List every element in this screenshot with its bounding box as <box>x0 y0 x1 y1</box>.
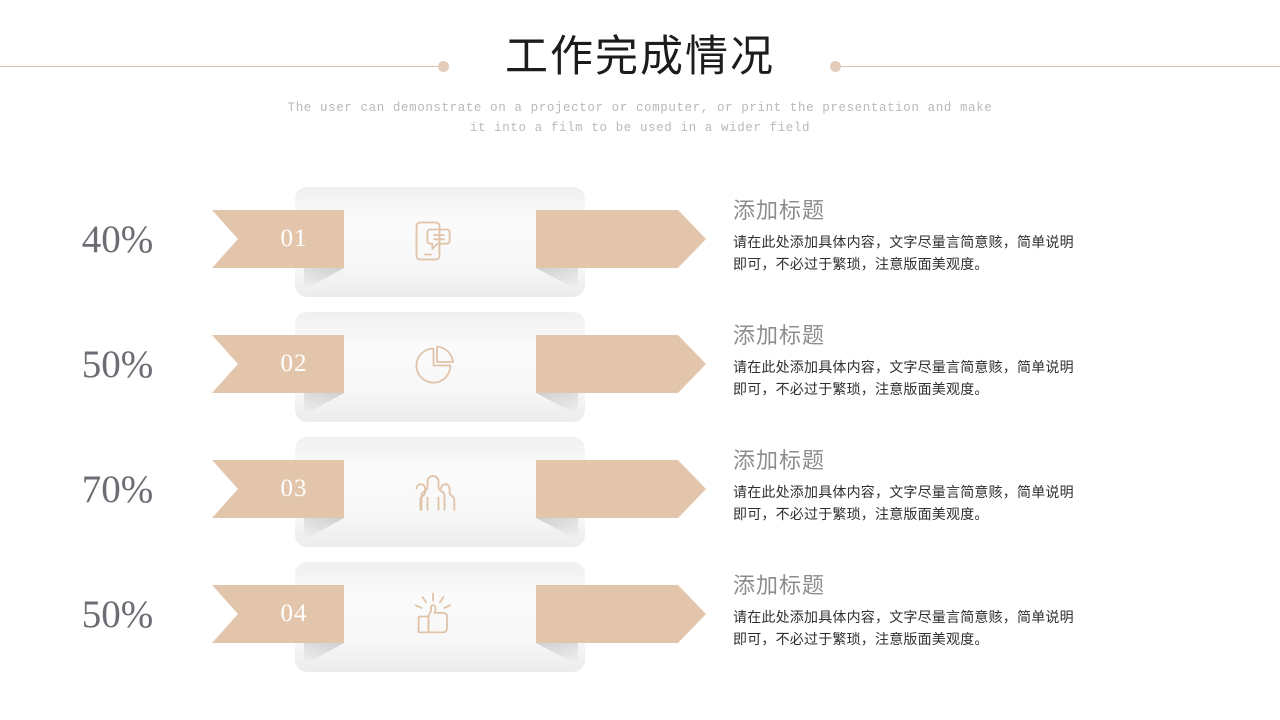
row-body: 请在此处添加具体内容，文字尽量言简意赅，简单说明即可，不必过于繁琐，注意版面美观… <box>733 231 1081 275</box>
list-item[interactable]: 50% 02 添加标题 请在此处添加具体内容，文字尽量言简意赅，简单说明即可，不… <box>0 297 1280 422</box>
thumbs-up-icon <box>398 587 468 645</box>
pie-chart-icon <box>398 337 468 395</box>
row-number-label: 01 <box>249 225 308 253</box>
row-text-block: 添加标题 请在此处添加具体内容，文字尽量言简意赅，简单说明即可，不必过于繁琐，注… <box>733 448 1093 525</box>
row-arrow-ribbon[interactable] <box>536 585 706 643</box>
row-percent-label: 70% <box>55 470 180 509</box>
row-title: 添加标题 <box>733 323 1093 349</box>
row-body: 请在此处添加具体内容，文字尽量言简意赅，简单说明即可，不必过于繁琐，注意版面美观… <box>733 606 1081 650</box>
row-number-ribbon[interactable]: 04 <box>212 585 344 643</box>
row-number-label: 03 <box>249 475 308 503</box>
row-percent-label: 50% <box>55 345 180 384</box>
list-item[interactable]: 50% 04 添加标题 请在此处添加具体内容，文字尽量言简意赅，简单说明即可，不… <box>0 547 1280 672</box>
slide-header: 工作完成情况 The user can demonstrate on a pro… <box>0 0 1280 150</box>
row-title: 添加标题 <box>733 198 1093 224</box>
row-text-block: 添加标题 请在此处添加具体内容，文字尽量言简意赅，简单说明即可，不必过于繁琐，注… <box>733 573 1093 650</box>
row-number-label: 04 <box>249 600 308 628</box>
progress-rows-list: 40% 01 添加标题 请在此处添加具体内容，文字尽量言简意赅，简单说明即可，不… <box>0 172 1280 672</box>
group-people-icon <box>398 462 468 520</box>
list-item[interactable]: 40% 01 添加标题 请在此处添加具体内容，文字尽量言简意赅，简单说明即可，不… <box>0 172 1280 297</box>
phone-message-icon <box>398 212 468 270</box>
row-percent-label: 50% <box>55 595 180 634</box>
row-percent-label: 40% <box>55 220 180 259</box>
row-number-ribbon[interactable]: 03 <box>212 460 344 518</box>
row-number-label: 02 <box>249 350 308 378</box>
row-number-ribbon[interactable]: 01 <box>212 210 344 268</box>
page-subtitle: The user can demonstrate on a projector … <box>280 98 1000 138</box>
list-item[interactable]: 70% 03 添加标题 请在此处添加具体内容，文字尽量言简意赅，简单说明即可，不… <box>0 422 1280 547</box>
row-title: 添加标题 <box>733 573 1093 599</box>
row-number-ribbon[interactable]: 02 <box>212 335 344 393</box>
row-text-block: 添加标题 请在此处添加具体内容，文字尽量言简意赅，简单说明即可，不必过于繁琐，注… <box>733 198 1093 275</box>
row-title: 添加标题 <box>733 448 1093 474</box>
row-body: 请在此处添加具体内容，文字尽量言简意赅，简单说明即可，不必过于繁琐，注意版面美观… <box>733 481 1081 525</box>
row-body: 请在此处添加具体内容，文字尽量言简意赅，简单说明即可，不必过于繁琐，注意版面美观… <box>733 356 1081 400</box>
page-title: 工作完成情况 <box>0 36 1280 79</box>
row-arrow-ribbon[interactable] <box>536 210 706 268</box>
row-arrow-ribbon[interactable] <box>536 335 706 393</box>
row-arrow-ribbon[interactable] <box>536 460 706 518</box>
row-text-block: 添加标题 请在此处添加具体内容，文字尽量言简意赅，简单说明即可，不必过于繁琐，注… <box>733 323 1093 400</box>
